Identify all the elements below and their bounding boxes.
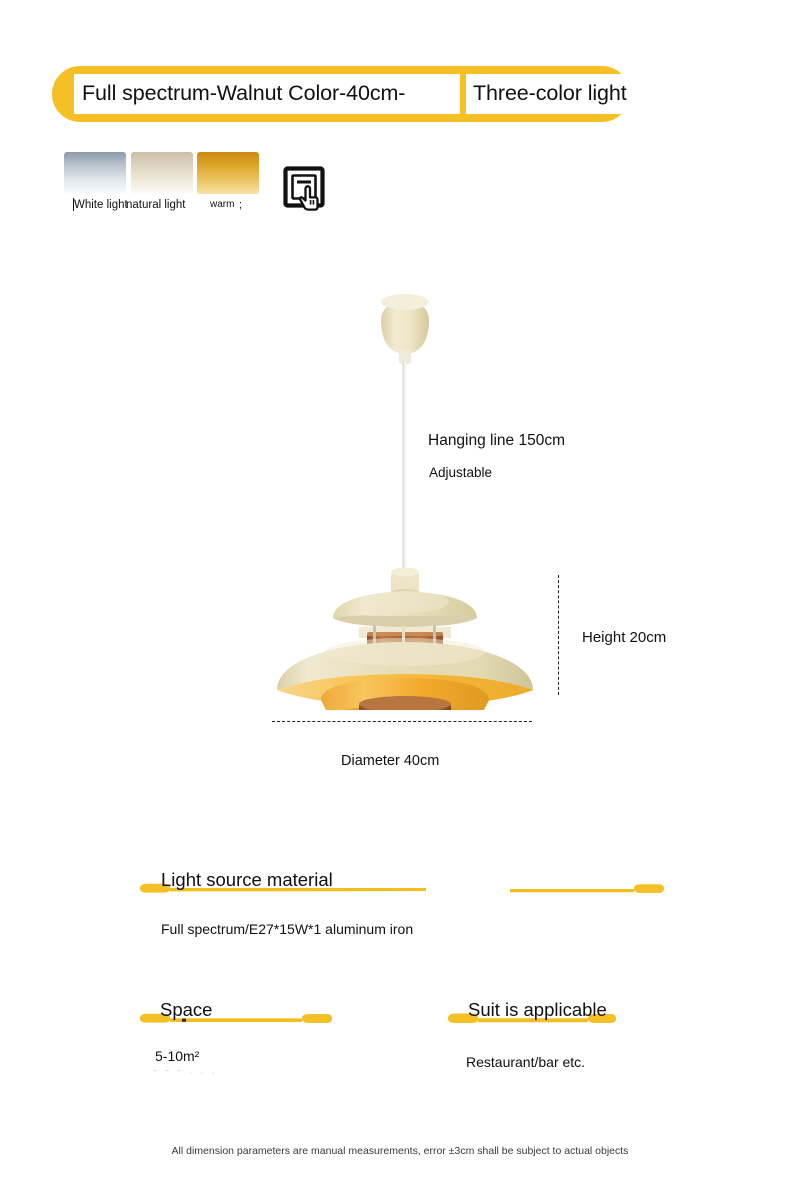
- product-title-box-secondary: Three-color light: [466, 74, 684, 114]
- swatch-label-trailing-mark: ;: [239, 200, 242, 211]
- hanging-line-label: Hanging line 150cm: [428, 433, 565, 449]
- product-title-banner: Full spectrum-Walnut Color-40cm- Three-c…: [52, 66, 630, 122]
- spec-title-suit-is-applicable: Suit is applicable: [468, 1001, 607, 1020]
- diameter-dimension-line: [272, 721, 532, 722]
- natural-white-swatch[interactable]: [131, 152, 193, 194]
- spec-title-space: Space: [160, 1001, 212, 1020]
- spec-title-light-source-material: Light source material: [161, 871, 333, 890]
- height-dimension-line: [558, 575, 559, 695]
- wall-switch-hand-press-icon[interactable]: [283, 166, 327, 214]
- spec-value-light-source-material: Full spectrum/E27*15W*1 aluminum iron: [161, 922, 413, 936]
- swatch-label-natural-light: natural light: [126, 200, 185, 212]
- spec-value-space: 5-10m²: [155, 1049, 199, 1063]
- pendant-lamp-illustration: [255, 280, 555, 710]
- measurement-disclaimer: All dimension parameters are manual meas…: [0, 1146, 800, 1157]
- spec-value-suit-is-applicable: Restaurant/bar etc.: [466, 1055, 585, 1069]
- adjustable-label: Adjustable: [429, 466, 492, 480]
- product-title-secondary: Three-color light: [473, 83, 627, 105]
- warm-amber-swatch[interactable]: [197, 152, 259, 194]
- height-label: Height 20cm: [582, 630, 666, 645]
- swatch-label-warm: warm: [210, 200, 234, 210]
- scan-artifact: - - - . . .: [153, 1062, 217, 1077]
- swatch-label-white-light: White light: [74, 200, 128, 212]
- product-title-primary: Full spectrum-Walnut Color-40cm-: [82, 83, 405, 105]
- product-title-box-primary: Full spectrum-Walnut Color-40cm-: [74, 74, 460, 114]
- cool-white-swatch[interactable]: [64, 152, 126, 194]
- diameter-label: Diameter 40cm: [341, 754, 439, 769]
